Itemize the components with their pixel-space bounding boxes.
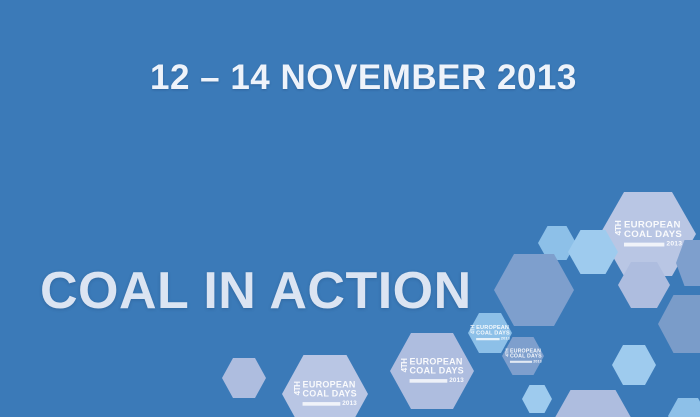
hex-top-right-logo <box>600 192 696 276</box>
hex-sky-bottom-small <box>522 385 552 413</box>
event-date-text: 12 – 14 NOVEMBER 2013 <box>150 58 577 98</box>
hex-steel-logo-small <box>502 337 544 375</box>
hex-lavender-mid-logo <box>390 333 474 409</box>
logo-mark: 4THEUROPEANCOAL DAYS2013 <box>504 349 541 364</box>
european-coal-days-logo: 4THEUROPEANCOAL DAYS2013 <box>600 192 696 276</box>
logo-ordinal: 4TH <box>504 349 509 357</box>
logo-year: 2013 <box>449 377 464 383</box>
logo-underline-rule: 2013 <box>302 400 356 406</box>
logo-word-european: EUROPEAN <box>624 221 681 231</box>
hex-steel-large-center <box>494 254 574 326</box>
logo-wordmark: EUROPEANCOAL DAYS2013 <box>476 325 510 341</box>
logo-word-coal-days: COAL DAYS <box>624 230 682 240</box>
logo-ordinal: 4TH <box>293 381 301 395</box>
logo-year: 2013 <box>666 241 682 248</box>
logo-ordinal: 4TH <box>614 221 623 236</box>
hex-sky-mid-top <box>568 230 618 274</box>
logo-mark: 4THEUROPEANCOAL DAYS2013 <box>400 358 463 383</box>
logo-year: 2013 <box>342 400 357 406</box>
logo-bar <box>510 360 532 362</box>
hex-steel-left-small <box>222 358 266 398</box>
hex-sky-top-right-corner <box>668 398 700 417</box>
slide-canvas: 4THEUROPEANCOAL DAYS20134THEUROPEANCOAL … <box>0 0 700 417</box>
hex-lavender-right-upper <box>618 262 670 308</box>
logo-year: 2013 <box>501 337 510 341</box>
logo-word-coal-days: COAL DAYS <box>302 390 356 399</box>
logo-word-european: EUROPEAN <box>476 325 509 331</box>
logo-bar <box>624 242 664 246</box>
european-coal-days-logo: 4THEUROPEANCOAL DAYS2013 <box>468 313 512 353</box>
page-title: COAL IN ACTION <box>40 261 472 321</box>
logo-ordinal: 4TH <box>400 358 408 372</box>
logo-wordmark: EUROPEANCOAL DAYS2013 <box>510 349 542 364</box>
logo-mark: 4THEUROPEANCOAL DAYS2013 <box>470 325 509 341</box>
logo-word-coal-days: COAL DAYS <box>409 367 463 376</box>
hex-steel-right-edge <box>658 295 700 353</box>
logo-mark: 4THEUROPEANCOAL DAYS2013 <box>614 221 682 248</box>
logo-underline-rule: 2013 <box>409 377 463 383</box>
logo-bar <box>302 402 340 406</box>
logo-bar <box>476 338 500 340</box>
logo-word-european: EUROPEAN <box>409 358 462 367</box>
logo-year: 2013 <box>533 360 542 364</box>
hex-sky-right-lower <box>612 345 656 385</box>
logo-wordmark: EUROPEANCOAL DAYS2013 <box>302 381 356 406</box>
logo-word-coal-days: COAL DAYS <box>510 354 542 359</box>
european-coal-days-logo: 4THEUROPEANCOAL DAYS2013 <box>282 355 368 417</box>
european-coal-days-logo: 4THEUROPEANCOAL DAYS2013 <box>502 337 544 375</box>
logo-bar <box>409 379 447 383</box>
logo-word-european: EUROPEAN <box>510 349 541 354</box>
hex-steel-far-right-bottom <box>676 240 700 286</box>
logo-wordmark: EUROPEANCOAL DAYS2013 <box>409 358 463 383</box>
logo-word-coal-days: COAL DAYS <box>476 331 510 337</box>
hex-lavender-left-logo <box>282 355 368 417</box>
european-coal-days-logo: 4THEUROPEANCOAL DAYS2013 <box>390 333 474 409</box>
hex-lavender-bottom-wide <box>548 390 638 417</box>
logo-ordinal: 4TH <box>470 325 475 334</box>
logo-underline-rule: 2013 <box>476 337 510 341</box>
logo-wordmark: EUROPEANCOAL DAYS2013 <box>624 221 682 248</box>
logo-mark: 4THEUROPEANCOAL DAYS2013 <box>293 381 356 406</box>
logo-underline-rule: 2013 <box>624 241 682 248</box>
logo-underline-rule: 2013 <box>510 360 542 364</box>
hex-sky-small-top <box>538 226 576 260</box>
hex-sky-logo-small <box>468 313 512 353</box>
logo-word-european: EUROPEAN <box>302 381 355 390</box>
